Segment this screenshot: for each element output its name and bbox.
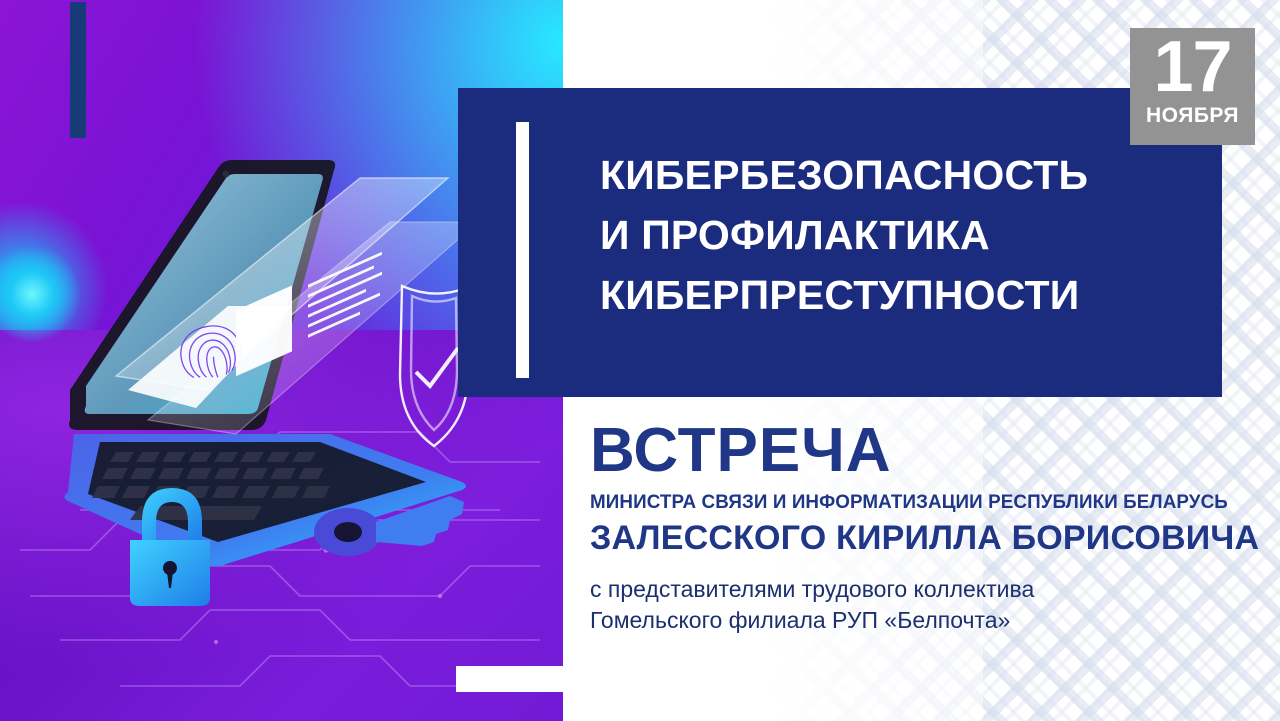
- event-role: МИНИСТРА СВЯЗИ И ИНФОРМАТИЗАЦИИ РЕСПУБЛИ…: [590, 490, 1227, 514]
- title-accent-bar: [516, 122, 529, 378]
- accent-bar-top-left: [70, 2, 86, 138]
- date-day: 17: [1153, 30, 1231, 104]
- laptop-keyboard: [64, 434, 466, 566]
- page-title: КИБЕРБЕЗОПАСНОСТЬ И ПРОФИЛАКТИКА КИБЕРПР…: [600, 145, 1200, 325]
- poster-canvas: КИБЕРБЕЗОПАСНОСТЬ И ПРОФИЛАКТИКА КИБЕРПР…: [0, 0, 1280, 721]
- laptop-icon: [30, 90, 500, 610]
- title-banner: КИБЕРБЕЗОПАСНОСТЬ И ПРОФИЛАКТИКА КИБЕРПР…: [458, 88, 1222, 397]
- event-details: ВСТРЕЧА МИНИСТРА СВЯЗИ И ИНФОРМАТИЗАЦИИ …: [590, 418, 1250, 636]
- event-person: ЗАЛЕССКОГО КИРИЛЛА БОРИСОВИЧА: [590, 518, 1250, 558]
- white-accent-stub: [456, 666, 568, 692]
- date-badge: 17 НОЯБРЯ: [1130, 28, 1255, 145]
- event-description: с представителями трудового коллектива Г…: [590, 574, 1250, 636]
- date-month: НОЯБРЯ: [1146, 104, 1239, 128]
- event-headline: ВСТРЕЧА: [590, 418, 1250, 484]
